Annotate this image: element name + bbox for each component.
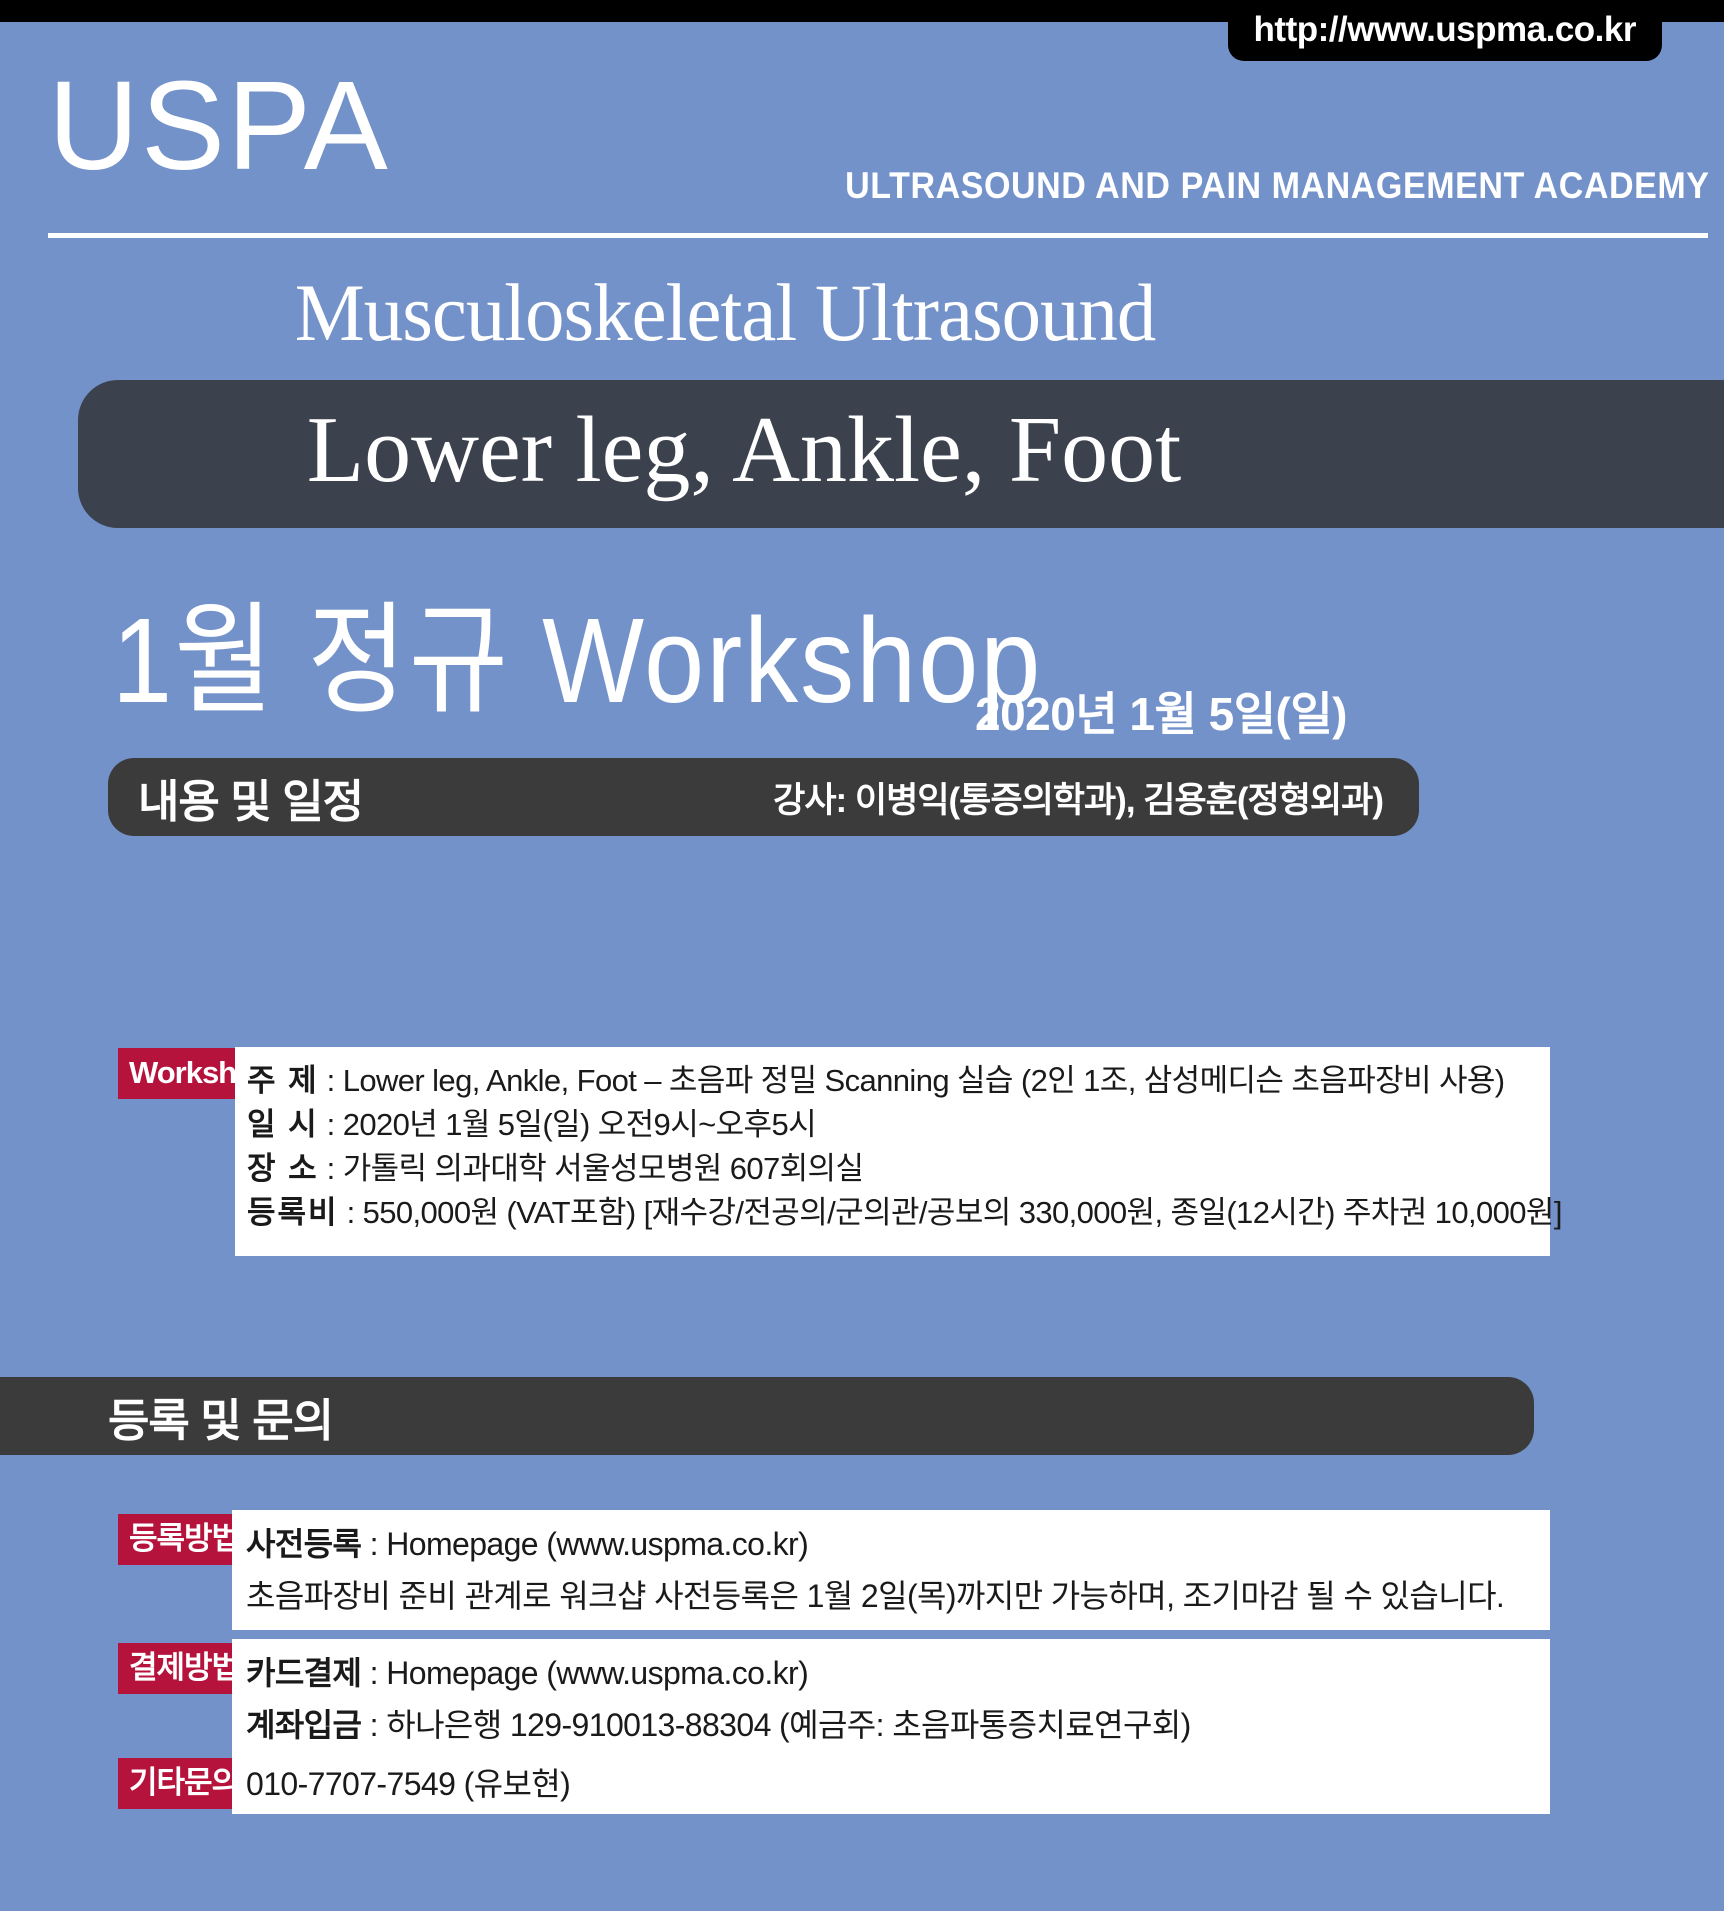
payment-line-sep: : [361,1707,386,1743]
schedule-row: 일 시 : 2020년 1월 5일(일) 오전9시~오후5시 [235,1103,1550,1147]
payment-method-box: 카드결제 : Homepage (www.uspma.co.kr) 계좌입금 :… [232,1639,1550,1759]
payment-line-value[interactable]: Homepage (www.uspma.co.kr) [386,1655,808,1691]
inquiry-line: 010-7707-7549 (유보현) [232,1758,1550,1810]
registration-line-label: 사전등록 [246,1526,361,1562]
payment-line: 카드결제 : Homepage (www.uspma.co.kr) [232,1647,1550,1699]
poster-root: http://www.uspma.co.kr USPA ULTRASOUND A… [0,0,1724,1911]
course-title: Musculoskeletal Ultrasound [29,272,1421,354]
schedule-row: 등록비 : 550,000원 (VAT포함) [재수강/전공의/군의관/공보의 … [235,1191,1550,1235]
schedule-row-label: 등록비 [247,1195,339,1230]
schedule-row: 주 제 : Lower leg, Ankle, Foot – 초음파 정밀 Sc… [235,1059,1550,1103]
registration-method-box: 사전등록 : Homepage (www.uspma.co.kr) 초음파장비 … [232,1510,1550,1630]
registration-line-sep: : [361,1526,386,1562]
registration-line: 초음파장비 준비 관계로 워크샵 사전등록은 1월 2일(목)까지만 가능하며,… [232,1570,1550,1622]
payment-line-sep: : [361,1655,386,1691]
payment-line: 계좌입금 : 하나은행 129-910013-88304 (예금주: 초음파통증… [232,1699,1550,1751]
instructors-label: 강사: 이병익(통증의학과), 김용훈(정형외과) [773,772,1383,823]
workshop-headline: 1월 정규 Workshop [112,600,1042,721]
schedule-row-label: 주 제 [247,1063,319,1098]
schedule-row-value: 가톨릭 의과대학 서울성모병원 607회의실 [343,1151,864,1186]
inquiry-phone: 010-7707-7549 (유보현) [246,1766,570,1802]
logo-zone: USPA ULTRASOUND AND PAIN MANAGEMENT ACAD… [0,55,1724,225]
schedule-row-value: 550,000원 (VAT포함) [재수강/전공의/군의관/공보의 330,00… [363,1195,1562,1230]
uspa-logo: USPA [48,63,390,189]
section-header-register: 등록 및 문의 [0,1377,1534,1455]
other-inquiry-box: 010-7707-7549 (유보현) [232,1754,1550,1814]
academy-tagline: ULTRASOUND AND PAIN MANAGEMENT ACADEMY [846,165,1710,207]
schedule-row-value: 2020년 1월 5일(일) 오전9시~오후5시 [343,1107,816,1142]
section-title-register: 등록 및 문의 [108,1384,333,1449]
schedule-row-label: 일 시 [247,1107,319,1142]
schedule-row-value: Lower leg, Ankle, Foot – 초음파 정밀 Scanning… [343,1063,1505,1098]
badge-registration-method: 등록방법 [118,1514,250,1565]
schedule-row: 장 소 : 가톨릭 의과대학 서울성모병원 607회의실 [235,1147,1550,1191]
course-subtitle: Lower leg, Ankle, Foot [78,398,1410,503]
workshop-date: 2020년 1월 5일(일) [975,678,1347,744]
payment-line-label: 계좌입금 [246,1707,361,1743]
badge-payment-method: 결제방법 [118,1643,250,1694]
payment-line-value: 하나은행 129-910013-88304 (예금주: 초음파통증치료연구회) [386,1707,1190,1743]
schedule-content-box: 주 제 : Lower leg, Ankle, Foot – 초음파 정밀 Sc… [235,1047,1550,1256]
registration-line: 사전등록 : Homepage (www.uspma.co.kr) [232,1518,1550,1570]
section-header-schedule: 내용 및 일정 강사: 이병익(통증의학과), 김용훈(정형외과) [108,758,1419,836]
registration-note: 초음파장비 준비 관계로 워크샵 사전등록은 1월 2일(목)까지만 가능하며,… [246,1578,1504,1614]
badge-other-inquiry: 기타문의 [118,1758,250,1809]
section-title-schedule: 내용 및 일정 [138,765,363,830]
website-url-tab[interactable]: http://www.uspma.co.kr [1228,0,1662,61]
payment-line-label: 카드결제 [246,1655,361,1691]
registration-line-value[interactable]: Homepage (www.uspma.co.kr) [386,1526,808,1562]
schedule-row-label: 장 소 [247,1151,319,1186]
header-divider-rule [48,233,1708,238]
